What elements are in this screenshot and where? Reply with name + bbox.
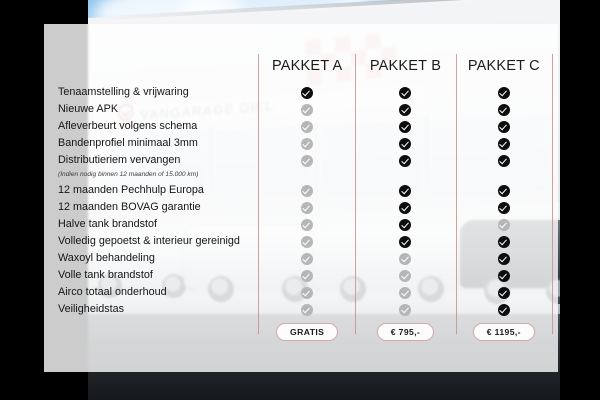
check-included-icon (498, 185, 510, 197)
mark-cell-b (356, 182, 454, 199)
check-included-icon (399, 185, 411, 197)
check-included-icon (498, 270, 510, 282)
mark-cell-b (356, 301, 454, 318)
screenshot-canvas: VANGARAGE GIEL PAKKET A (0, 0, 600, 400)
check-included-icon (498, 236, 510, 248)
check-excluded-icon (498, 219, 510, 231)
check-included-icon (399, 87, 411, 99)
feature-label: Afleverbeurt volgens schema (58, 118, 197, 135)
feature-label: Distributieriem vervangen (58, 152, 180, 169)
check-excluded-icon (301, 104, 313, 116)
column-header-c: PAKKET C (455, 54, 553, 82)
check-excluded-icon (301, 219, 313, 231)
feature-label: Bandenprofiel minimaal 3mm (58, 135, 198, 152)
mark-cell-a (258, 233, 356, 250)
mark-cell-b (356, 284, 454, 301)
check-excluded-icon (301, 253, 313, 265)
mark-cell-c (455, 135, 553, 152)
feature-row: Volledig gepoetst & interieur gereinigd (44, 233, 558, 250)
feature-row: Tenaamstelling & vrijwaring (44, 84, 558, 101)
mark-cell-b (356, 199, 454, 216)
column-header-b: PAKKET B (356, 54, 454, 82)
feature-label: Tenaamstelling & vrijwaring (58, 84, 189, 101)
mark-cell-a (258, 118, 356, 135)
feature-marks (258, 233, 553, 250)
check-included-icon (301, 87, 313, 99)
check-included-icon (399, 236, 411, 248)
check-included-icon (399, 219, 411, 231)
mark-cell-b (356, 250, 454, 267)
check-included-icon (498, 121, 510, 133)
mark-cell-a (258, 199, 356, 216)
mark-cell-a (258, 284, 356, 301)
feature-label: Nieuwe APK (58, 101, 118, 118)
mark-cell-b (356, 216, 454, 233)
feature-row: Airco totaal onderhoud (44, 284, 558, 301)
feature-label: 12 maanden Pechhulp Europa (58, 182, 204, 199)
price-button-c[interactable]: € 1195,- (473, 323, 535, 341)
mark-cell-b (356, 101, 454, 118)
feature-marks (258, 250, 553, 267)
mark-cell-b (356, 233, 454, 250)
feature-marks (258, 182, 553, 199)
check-excluded-icon (399, 270, 411, 282)
check-excluded-icon (301, 202, 313, 214)
check-included-icon (399, 104, 411, 116)
mark-cell-a (258, 182, 356, 199)
package-comparison-card: PAKKET A PAKKET B PAKKET C Tenaamstellin… (44, 24, 558, 372)
feature-row: Halve tank brandstof (44, 216, 558, 233)
check-included-icon (399, 155, 411, 167)
check-excluded-icon (301, 185, 313, 197)
check-excluded-icon (301, 121, 313, 133)
check-excluded-icon (301, 155, 313, 167)
feature-label: Waxoyl behandeling (58, 250, 155, 267)
feature-marks (258, 301, 553, 318)
check-included-icon (399, 202, 411, 214)
feature-marks (258, 152, 553, 169)
feature-row: 12 maanden Pechhulp Europa (44, 182, 558, 199)
feature-marks (258, 267, 553, 284)
price-button-a[interactable]: GRATIS (276, 323, 338, 341)
check-included-icon (498, 253, 510, 265)
column-header-a: PAKKET A (258, 54, 356, 82)
check-included-icon (498, 138, 510, 150)
check-excluded-icon (399, 253, 411, 265)
mark-cell-b (356, 118, 454, 135)
feature-group-basis: Tenaamstelling & vrijwaringNieuwe APKAfl… (44, 84, 558, 181)
feature-marks (258, 199, 553, 216)
feature-label: Veiligheidstas (58, 301, 124, 318)
feature-note-row: (Indien nodig binnen 12 maanden of 15.00… (44, 169, 558, 181)
mark-cell-c (455, 284, 553, 301)
column-headers: PAKKET A PAKKET B PAKKET C (258, 54, 553, 82)
feature-label: Volledig gepoetst & interieur gereinigd (58, 233, 240, 250)
check-excluded-icon (399, 287, 411, 299)
feature-label: 12 maanden BOVAG garantie (58, 199, 201, 216)
mark-cell-a (258, 101, 356, 118)
feature-label: Halve tank brandstof (58, 216, 157, 233)
check-excluded-icon (301, 304, 313, 316)
mark-cell-c (455, 152, 553, 169)
check-included-icon (498, 104, 510, 116)
feature-marks (258, 101, 553, 118)
mark-cell-c (455, 301, 553, 318)
feature-row: Veiligheidstas (44, 301, 558, 318)
check-included-icon (399, 138, 411, 150)
feature-row: Afleverbeurt volgens schema (44, 118, 558, 135)
feature-row: Nieuwe APK (44, 101, 558, 118)
mark-cell-a (258, 152, 356, 169)
feature-marks (258, 84, 553, 101)
feature-row: Waxoyl behandeling (44, 250, 558, 267)
mark-cell-c (455, 199, 553, 216)
price-cell-c: € 1195,- (455, 320, 553, 344)
check-included-icon (498, 287, 510, 299)
feature-row: Volle tank brandstof (44, 267, 558, 284)
check-excluded-icon (301, 236, 313, 248)
mark-cell-b (356, 267, 454, 284)
price-cell-b: € 795,- (356, 320, 454, 344)
check-included-icon (498, 155, 510, 167)
mark-cell-c (455, 267, 553, 284)
feature-row: 12 maanden BOVAG garantie (44, 199, 558, 216)
feature-group-extra: 12 maanden Pechhulp Europa12 maanden BOV… (44, 182, 558, 318)
feature-marks (258, 216, 553, 233)
mark-cell-b (356, 135, 454, 152)
check-excluded-icon (301, 270, 313, 282)
feature-note: (Indien nodig binnen 12 maanden of 15.00… (58, 169, 198, 181)
feature-row: Bandenprofiel minimaal 3mm (44, 135, 558, 152)
mark-cell-c (455, 118, 553, 135)
feature-label: Volle tank brandstof (58, 267, 153, 284)
mark-cell-c (455, 84, 553, 101)
check-excluded-icon (301, 287, 313, 299)
mark-cell-c (455, 250, 553, 267)
feature-marks (258, 135, 553, 152)
mark-cell-c (455, 216, 553, 233)
feature-marks (258, 118, 553, 135)
feature-row: Distributieriem vervangen (44, 152, 558, 169)
feature-label: Airco totaal onderhoud (58, 284, 167, 301)
mark-cell-a (258, 84, 356, 101)
check-included-icon (498, 304, 510, 316)
price-button-b[interactable]: € 795,- (377, 323, 435, 341)
check-included-icon (498, 87, 510, 99)
mark-cell-c (455, 101, 553, 118)
check-excluded-icon (301, 138, 313, 150)
price-cell-a: GRATIS (258, 320, 356, 344)
mark-cell-b (356, 84, 454, 101)
mark-cell-a (258, 216, 356, 233)
mark-cell-a (258, 250, 356, 267)
check-excluded-icon (399, 304, 411, 316)
mark-cell-c (455, 182, 553, 199)
price-row: GRATIS € 795,- € 1195,- (258, 320, 553, 344)
mark-cell-a (258, 267, 356, 284)
check-included-icon (399, 121, 411, 133)
mark-cell-c (455, 233, 553, 250)
mark-cell-a (258, 135, 356, 152)
check-included-icon (498, 202, 510, 214)
mark-cell-a (258, 301, 356, 318)
mark-cell-b (356, 152, 454, 169)
feature-marks (258, 284, 553, 301)
